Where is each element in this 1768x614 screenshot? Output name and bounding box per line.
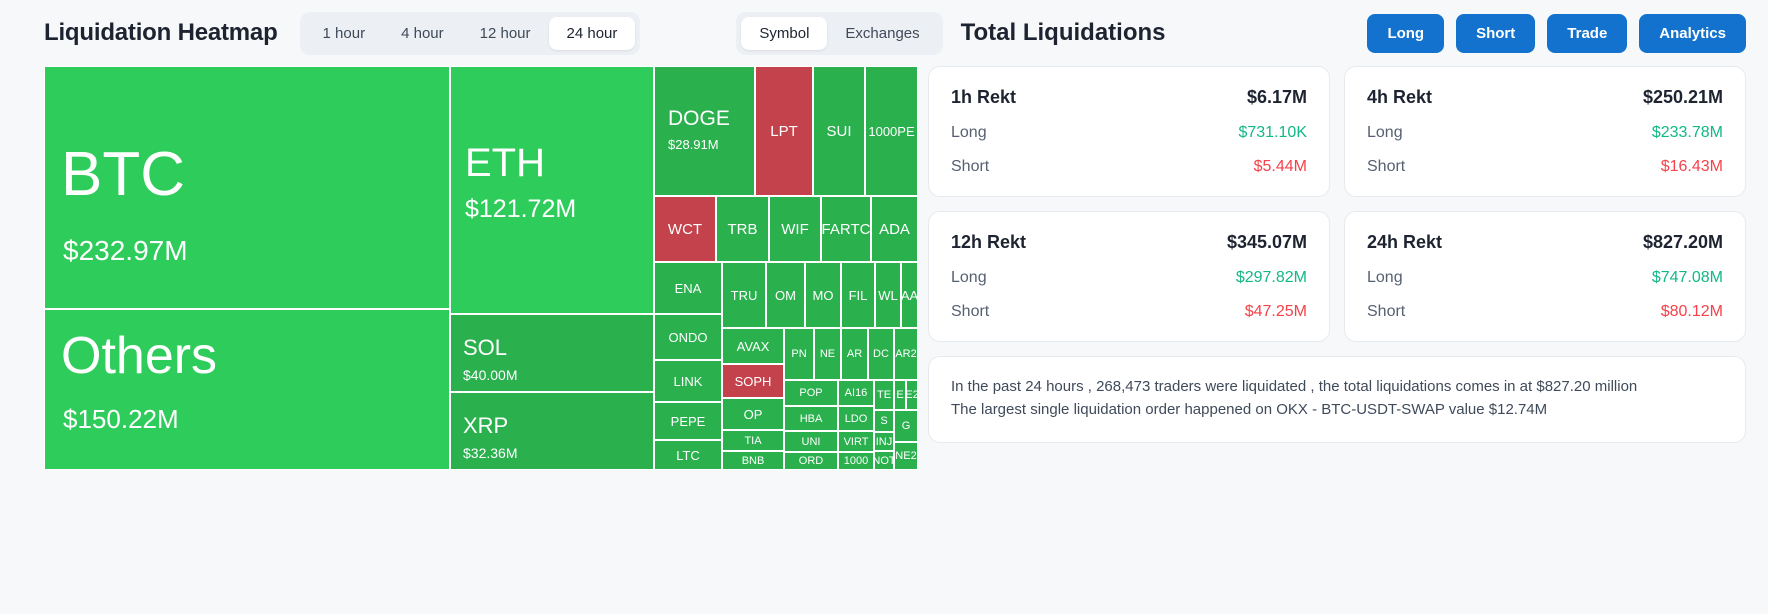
timeframe-4-hour[interactable]: 4 hour xyxy=(383,17,462,50)
timeframe-1-hour[interactable]: 1 hour xyxy=(305,17,384,50)
treemap-cell-xrp[interactable]: XRP $32.36M xyxy=(450,392,654,470)
stat-card-24h: 24h Rekt $827.20M Long $747.08M Short $8… xyxy=(1344,211,1746,342)
treemap-label-sui: SUI xyxy=(826,123,851,140)
treemap-cell-ne[interactable]: NE xyxy=(814,328,841,380)
treemap-label-ar: AR xyxy=(847,348,862,360)
treemap-label-virt: VIRT xyxy=(844,436,869,448)
treemap-cell-ord[interactable]: ORD xyxy=(784,452,838,470)
tab-exchanges[interactable]: Exchanges xyxy=(827,17,937,50)
stat-card-4h-total: $250.21M xyxy=(1643,87,1723,108)
treemap-label-bnb: BNB xyxy=(742,455,765,467)
treemap-value-doge: $28.91M xyxy=(668,137,719,152)
stat-card-1h-total: $6.17M xyxy=(1247,87,1307,108)
treemap-label-pn: PN xyxy=(791,348,806,360)
treemap-label-others: Others xyxy=(61,326,217,386)
treemap-label-link: LINK xyxy=(674,374,703,389)
treemap-label-tru: TRU xyxy=(731,288,758,303)
liquidation-treemap: BTC $232.97M Others $150.22M ETH $121.72… xyxy=(44,66,918,470)
treemap-value-others: $150.22M xyxy=(63,404,179,435)
treemap-cell-s[interactable]: S xyxy=(874,410,894,432)
treemap-label-g: G xyxy=(902,420,911,432)
treemap-cell-wct[interactable]: WCT xyxy=(654,196,716,262)
treemap-cell-sol[interactable]: SOL $40.00M xyxy=(450,314,654,392)
long-button[interactable]: Long xyxy=(1367,14,1444,53)
treemap-cell-wl[interactable]: WL xyxy=(875,262,901,328)
stat-card-24h-long-label: Long xyxy=(1367,269,1403,287)
liquidation-heatmap-page: Liquidation Heatmap 1 hour 4 hour 12 hou… xyxy=(0,0,1768,614)
treemap-label-fartc: FARTC xyxy=(822,221,871,238)
treemap-label-wct: WCT xyxy=(668,221,702,238)
treemap-label-ldo: LDO xyxy=(845,413,868,425)
treemap-value-sol: $40.00M xyxy=(463,367,517,383)
treemap-label-ai16: AI16 xyxy=(845,387,868,399)
treemap-cell-pepe[interactable]: PEPE xyxy=(654,402,722,440)
treemap-label-ltc: LTC xyxy=(676,448,700,463)
treemap-label-tia: TIA xyxy=(744,435,761,447)
summary-card: In the past 24 hours , 268,473 traders w… xyxy=(928,356,1746,443)
treemap-label-btc: BTC xyxy=(61,139,185,210)
treemap-cell-e[interactable]: E xyxy=(894,380,906,410)
stat-card-4h-long-row: Long $233.78M xyxy=(1367,124,1723,142)
treemap-cell-ltc[interactable]: LTC xyxy=(654,440,722,470)
treemap-label-ne2: NE2 xyxy=(895,450,916,462)
stat-card-1h-period: 1h Rekt xyxy=(951,87,1016,108)
treemap-label-1000: 1000 xyxy=(844,455,868,467)
stat-card-12h-total: $345.07M xyxy=(1227,232,1307,253)
stat-card-24h-short-row: Short $80.12M xyxy=(1367,303,1723,321)
stat-card-24h-total: $827.20M xyxy=(1643,232,1723,253)
treemap-cell-ar2[interactable]: AR2 xyxy=(894,328,918,380)
summary-line-2: The largest single liquidation order hap… xyxy=(951,398,1723,421)
treemap-cell-tru[interactable]: TRU xyxy=(722,262,766,328)
treemap-cell-bnb[interactable]: BNB xyxy=(722,451,784,470)
treemap-label-pepe: PEPE xyxy=(671,414,706,429)
page-header: Liquidation Heatmap 1 hour 4 hour 12 hou… xyxy=(0,0,1768,66)
treemap-label-xrp: XRP xyxy=(463,413,508,439)
treemap-cell-ena[interactable]: ENA xyxy=(654,262,722,314)
treemap-cell-hba[interactable]: HBA xyxy=(784,406,838,431)
treemap-cell-doge[interactable]: DOGE $28.91M xyxy=(654,66,755,196)
total-liquidations-title: Total Liquidations xyxy=(961,19,1166,47)
page-title: Liquidation Heatmap xyxy=(44,19,278,47)
treemap-label-soph: SOPH xyxy=(735,374,772,389)
treemap-cell-te[interactable]: TE xyxy=(874,380,894,410)
treemap-cell-om[interactable]: OM xyxy=(766,262,805,328)
treemap-label-ada: ADA xyxy=(879,221,910,238)
treemap-label-dc: DC xyxy=(873,348,889,360)
treemap-cell-pop[interactable]: POP xyxy=(784,380,838,406)
treemap-cell-fartc[interactable]: FARTC xyxy=(821,196,871,262)
stat-card-4h: 4h Rekt $250.21M Long $233.78M Short $16… xyxy=(1344,66,1746,197)
treemap-label-ar2: AR2 xyxy=(895,348,916,360)
treemap-cell-e2[interactable]: E2 xyxy=(906,380,918,410)
treemap-cell-soph[interactable]: SOPH xyxy=(722,364,784,398)
stat-card-1h-short-value: $5.44M xyxy=(1254,158,1307,176)
stat-card-4h-header: 4h Rekt $250.21M xyxy=(1367,87,1723,108)
stat-card-24h-short-value: $80.12M xyxy=(1661,303,1723,321)
stat-card-12h-short-row: Short $47.25M xyxy=(951,303,1307,321)
treemap-cell-ne2[interactable]: NE2 xyxy=(894,442,918,470)
treemap-label-ondo: ONDO xyxy=(669,330,708,345)
treemap-cell-eth[interactable]: ETH $121.72M xyxy=(450,66,654,314)
treemap-label-not: NOT xyxy=(874,455,894,467)
treemap-cell-link[interactable]: LINK xyxy=(654,360,722,402)
treemap-cell-1000pe[interactable]: 1000PE xyxy=(865,66,918,196)
header-actions: Long Short Trade Analytics xyxy=(1367,14,1746,53)
treemap-cell-ai16[interactable]: AI16 xyxy=(838,380,874,406)
treemap-cell-tia[interactable]: TIA xyxy=(722,430,784,451)
stat-card-4h-short-value: $16.43M xyxy=(1661,158,1723,176)
summary-line-1: In the past 24 hours , 268,473 traders w… xyxy=(951,375,1723,398)
treemap-label-uni: UNI xyxy=(802,436,821,448)
treemap-value-btc: $232.97M xyxy=(63,235,188,267)
treemap-label-avax: AVAX xyxy=(737,339,770,354)
treemap-cell-btc[interactable]: BTC $232.97M xyxy=(44,66,450,309)
treemap-cell-uni[interactable]: UNI xyxy=(784,431,838,452)
treemap-label-wl: WL xyxy=(878,288,898,303)
trade-button[interactable]: Trade xyxy=(1547,14,1627,53)
treemap-cell-ondo[interactable]: ONDO xyxy=(654,314,722,360)
treemap-label-ena: ENA xyxy=(675,281,702,296)
stat-card-24h-short-label: Short xyxy=(1367,303,1405,321)
stat-card-12h-short-label: Short xyxy=(951,303,989,321)
stat-card-24h-long-row: Long $747.08M xyxy=(1367,269,1723,287)
stat-card-1h-short-row: Short $5.44M xyxy=(951,158,1307,176)
treemap-label-hba: HBA xyxy=(800,413,823,425)
stat-card-4h-period: 4h Rekt xyxy=(1367,87,1432,108)
treemap-value-eth: $121.72M xyxy=(465,195,576,224)
treemap-label-wif: WIF xyxy=(781,221,809,238)
treemap-label-ne: NE xyxy=(820,348,835,360)
treemap-cell-aa[interactable]: AA xyxy=(901,262,918,328)
stat-card-12h-period: 12h Rekt xyxy=(951,232,1026,253)
treemap-cell-dc[interactable]: DC xyxy=(868,328,894,380)
treemap-cell-lpt[interactable]: LPT xyxy=(755,66,813,196)
timeframe-24-hour[interactable]: 24 hour xyxy=(549,17,636,50)
treemap-label-e2: E2 xyxy=(906,389,918,401)
treemap-label-ord: ORD xyxy=(799,455,823,467)
stat-card-1h-long-label: Long xyxy=(951,124,987,142)
tab-symbol[interactable]: Symbol xyxy=(741,17,827,50)
treemap-cell-inj[interactable]: INJ xyxy=(874,432,894,451)
stat-card-1h: 1h Rekt $6.17M Long $731.10K Short $5.44… xyxy=(928,66,1330,197)
treemap-label-aa: AA xyxy=(901,288,918,303)
treemap-cell-wif[interactable]: WIF xyxy=(769,196,821,262)
treemap-cell-trb[interactable]: TRB xyxy=(716,196,769,262)
page-body: BTC $232.97M Others $150.22M ETH $121.72… xyxy=(0,66,1768,470)
treemap-cell-avax[interactable]: AVAX xyxy=(722,328,784,364)
stat-card-24h-header: 24h Rekt $827.20M xyxy=(1367,232,1723,253)
treemap-cell-mo[interactable]: MO xyxy=(805,262,841,328)
total-liquidations-panel: 1h Rekt $6.17M Long $731.10K Short $5.44… xyxy=(918,66,1768,470)
stat-card-24h-period: 24h Rekt xyxy=(1367,232,1442,253)
stat-card-12h-header: 12h Rekt $345.07M xyxy=(951,232,1307,253)
stat-card-4h-long-value: $233.78M xyxy=(1652,124,1723,142)
treemap-cell-g[interactable]: G xyxy=(894,410,918,442)
stat-card-4h-short-label: Short xyxy=(1367,158,1405,176)
timeframe-12-hour[interactable]: 12 hour xyxy=(462,17,549,50)
treemap-cell-others[interactable]: Others $150.22M xyxy=(44,309,450,470)
treemap-cell-pn[interactable]: PN xyxy=(784,328,814,380)
treemap-cell-ada[interactable]: ADA xyxy=(871,196,918,262)
treemap-cell-virt[interactable]: VIRT xyxy=(838,431,874,452)
treemap-label-pop: POP xyxy=(799,387,822,399)
stat-card-4h-long-label: Long xyxy=(1367,124,1403,142)
treemap-label-om: OM xyxy=(775,288,796,303)
treemap-label-sol: SOL xyxy=(463,335,507,361)
treemap-label-e: E xyxy=(896,389,903,401)
treemap-label-inj: INJ xyxy=(876,436,893,448)
treemap-label-mo: MO xyxy=(813,288,834,303)
view-segmented-control: Symbol Exchanges xyxy=(736,12,942,55)
treemap-cell-1000[interactable]: 1000 xyxy=(838,452,874,470)
stat-card-12h-long-row: Long $297.82M xyxy=(951,269,1307,287)
treemap-label-doge: DOGE xyxy=(668,107,730,131)
stat-card-24h-long-value: $747.08M xyxy=(1652,269,1723,287)
timeframe-segmented-control: 1 hour 4 hour 12 hour 24 hour xyxy=(300,12,641,55)
treemap-label-s: S xyxy=(880,415,887,427)
stat-card-12h-long-label: Long xyxy=(951,269,987,287)
treemap-label-lpt: LPT xyxy=(770,123,798,140)
short-button[interactable]: Short xyxy=(1456,14,1535,53)
treemap-cell-op[interactable]: OP xyxy=(722,398,784,430)
treemap-cell-sui[interactable]: SUI xyxy=(813,66,865,196)
treemap-label-eth: ETH xyxy=(465,141,545,186)
stat-cards-grid: 1h Rekt $6.17M Long $731.10K Short $5.44… xyxy=(928,66,1746,342)
treemap-cell-not[interactable]: NOT xyxy=(874,451,894,470)
treemap-label-fil: FIL xyxy=(849,288,868,303)
treemap-value-xrp: $32.36M xyxy=(463,445,517,461)
treemap-cell-fil[interactable]: FIL xyxy=(841,262,875,328)
treemap-cell-ar[interactable]: AR xyxy=(841,328,868,380)
stat-card-1h-header: 1h Rekt $6.17M xyxy=(951,87,1307,108)
stat-card-1h-long-row: Long $731.10K xyxy=(951,124,1307,142)
analytics-button[interactable]: Analytics xyxy=(1639,14,1746,53)
stat-card-12h: 12h Rekt $345.07M Long $297.82M Short $4… xyxy=(928,211,1330,342)
stat-card-12h-long-value: $297.82M xyxy=(1236,269,1307,287)
treemap-label-op: OP xyxy=(744,407,763,422)
stat-card-1h-long-value: $731.10K xyxy=(1238,124,1307,142)
treemap-label-trb: TRB xyxy=(728,221,758,238)
treemap-label-te: TE xyxy=(877,389,891,401)
treemap-label-1000pe: 1000PE xyxy=(868,124,914,139)
treemap-cell-ldo[interactable]: LDO xyxy=(838,406,874,431)
stat-card-4h-short-row: Short $16.43M xyxy=(1367,158,1723,176)
stat-card-12h-short-value: $47.25M xyxy=(1245,303,1307,321)
stat-card-1h-short-label: Short xyxy=(951,158,989,176)
